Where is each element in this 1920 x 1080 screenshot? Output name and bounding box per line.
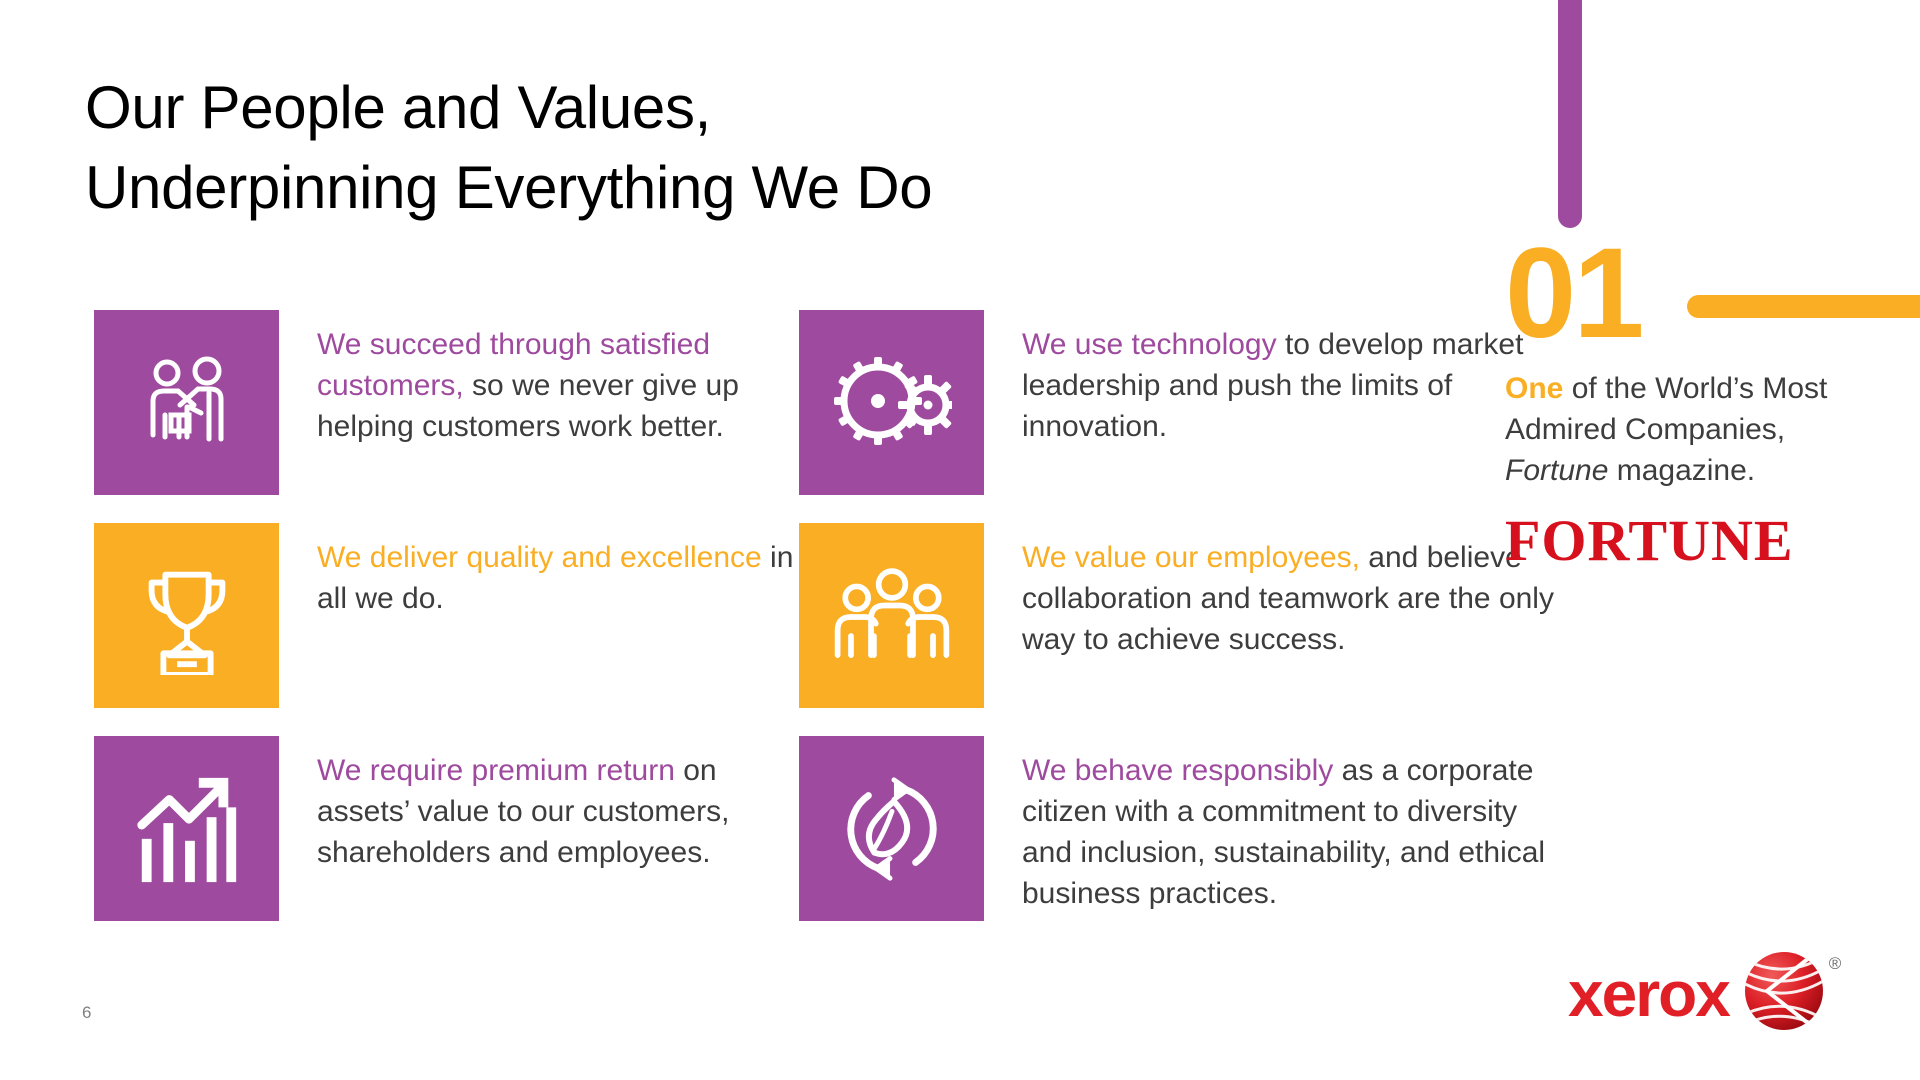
value-lead-2: We use technology <box>1022 328 1277 361</box>
stat-number: 01 <box>1505 230 1641 358</box>
value-lead-3: We deliver quality and excellence <box>317 541 762 574</box>
value-item-2: We use technology to develop market lead… <box>799 310 1559 495</box>
values-row-3: We require premium return on assets’ val… <box>94 736 1674 921</box>
fortune-logo: FORTUNE <box>1505 511 1920 571</box>
growth-chart-icon <box>128 770 246 888</box>
page-number: 6 <box>82 1003 91 1023</box>
value-item-3: We deliver quality and excellence in all… <box>94 523 799 708</box>
trophy-icon <box>128 557 246 675</box>
value-text-3: We deliver quality and excellence in all… <box>279 523 799 619</box>
stat-number-row: 01 <box>1505 248 1920 358</box>
rail-accent-bar <box>1558 0 1582 228</box>
title-line-1: Our People and Values, <box>85 68 1245 148</box>
value-icon-tile-6 <box>799 736 984 921</box>
stat-callout: 01 One of the World’s Most Admired Compa… <box>1505 248 1920 571</box>
stat-highlight: One <box>1505 372 1563 405</box>
stat-dash <box>1687 295 1920 318</box>
registered-trademark: ® <box>1829 954 1842 974</box>
value-text-5: We require premium return on assets’ val… <box>279 736 799 873</box>
value-text-6: We behave responsibly as a corporate cit… <box>984 736 1559 914</box>
value-text-1: We succeed through satisfied customers, … <box>279 310 799 447</box>
stat-text: One of the World’s Most Admired Companie… <box>1505 368 1835 491</box>
xerox-sphere-icon <box>1743 950 1825 1037</box>
value-lead-6: We behave responsibly <box>1022 754 1333 787</box>
gears-icon <box>832 343 952 463</box>
value-item-5: We require premium return on assets’ val… <box>94 736 799 921</box>
slide: Our People and Values, Underpinning Ever… <box>0 0 1920 1080</box>
values-grid: We succeed through satisfied customers, … <box>94 310 1674 949</box>
stat-text-italic: Fortune <box>1505 454 1608 487</box>
value-icon-tile-3 <box>94 523 279 708</box>
page-title: Our People and Values, Underpinning Ever… <box>85 68 1245 228</box>
value-text-4: We value our employees, and believe coll… <box>984 523 1559 660</box>
value-icon-tile-4 <box>799 523 984 708</box>
handshake-icon <box>127 343 247 463</box>
value-icon-tile-2 <box>799 310 984 495</box>
value-item-6: We behave responsibly as a corporate cit… <box>799 736 1559 921</box>
xerox-logo: xerox <box>1568 950 1841 1037</box>
xerox-wordmark: xerox <box>1568 962 1729 1026</box>
value-icon-tile-1 <box>94 310 279 495</box>
value-icon-tile-5 <box>94 736 279 921</box>
values-row-1: We succeed through satisfied customers, … <box>94 310 1674 495</box>
stat-text-part2: magazine. <box>1608 454 1755 487</box>
value-item-4: We value our employees, and believe coll… <box>799 523 1559 708</box>
title-line-2: Underpinning Everything We Do <box>85 148 1245 228</box>
value-lead-5: We require premium return <box>317 754 675 787</box>
leaf-recycle-icon <box>833 770 951 888</box>
people-group-icon <box>830 561 954 671</box>
value-item-1: We succeed through satisfied customers, … <box>94 310 799 495</box>
value-text-2: We use technology to develop market lead… <box>984 310 1559 447</box>
value-lead-4: We value our employees, <box>1022 541 1360 574</box>
values-row-2: We deliver quality and excellence in all… <box>94 523 1674 708</box>
